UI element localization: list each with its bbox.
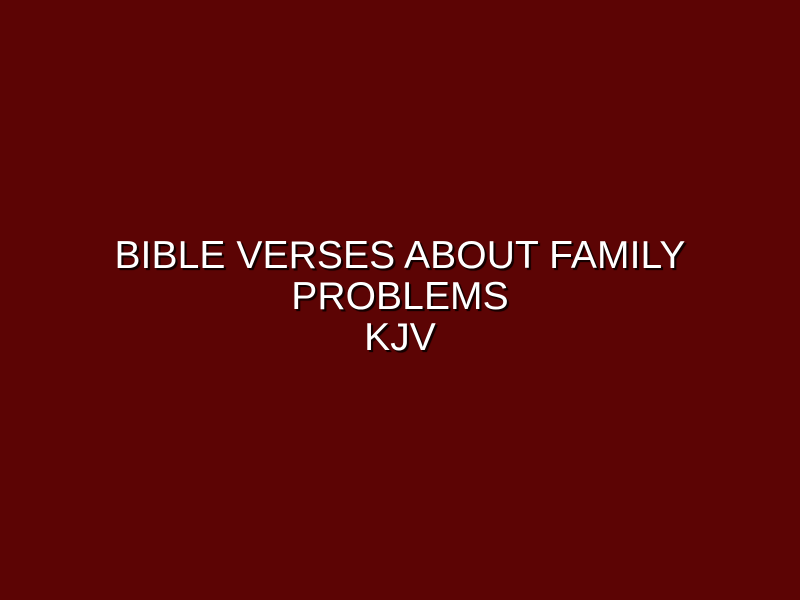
page-title: BIBLE VERSES ABOUT FAMILY PROBLEMSKJV (40, 235, 760, 358)
title-block: BIBLE VERSES ABOUT FAMILY PROBLEMSKJV (40, 235, 760, 358)
page-title-line-1: BIBLE VERSES ABOUT FAMILY PROBLEMS (114, 234, 685, 318)
page-title-line-2: KJV (364, 316, 436, 359)
title-card: BIBLE VERSES ABOUT FAMILY PROBLEMSKJV (0, 0, 800, 600)
